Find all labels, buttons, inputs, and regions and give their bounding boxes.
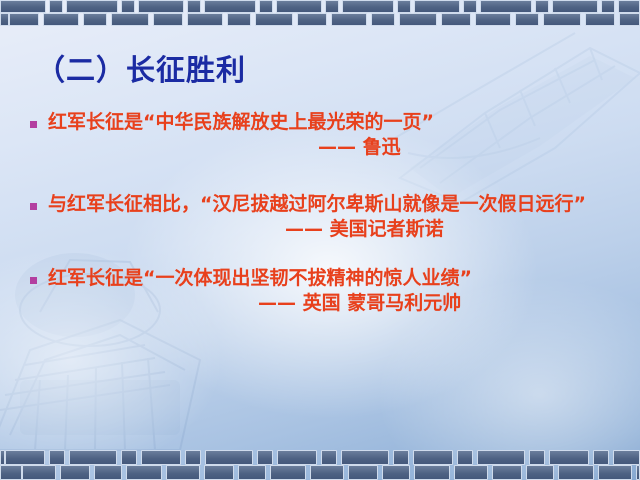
bullet-text: 红军长征是“一次体现出坚韧不拔精神的惊人业绩” — [48, 266, 634, 291]
slide-title: （二）长征胜利 — [36, 47, 246, 89]
quote-block-3: 红军长征是“一次体现出坚韧不拔精神的惊人业绩” —— 英国 蒙哥马利元帅 — [0, 266, 640, 316]
slide-body: 红军长征是“中华民族解放史上最光荣的一页” —— 鲁迅 与红军长征相比，“汉尼拔… — [0, 110, 640, 318]
spacer — [0, 244, 640, 266]
bullet-row: 与红军长征相比，“汉尼拔越过阿尔卑斯山就像是一次假日远行” — [0, 192, 640, 217]
square-bullet-icon — [30, 277, 37, 284]
slide-canvas: （二）长征胜利 红军长征是“中华民族解放史上最光荣的一页” —— 鲁迅 与红军长… — [0, 0, 640, 480]
bottom-border-strip — [0, 450, 640, 480]
bullet-text: 与红军长征相比，“汉尼拔越过阿尔卑斯山就像是一次假日远行” — [48, 192, 634, 217]
square-bullet-icon — [30, 121, 37, 128]
attribution-text: —— 美国记者斯诺 — [285, 217, 640, 242]
bullet-row: 红军长征是“一次体现出坚韧不拔精神的惊人业绩” — [0, 266, 640, 291]
attribution-text: —— 鲁迅 — [318, 135, 640, 160]
bullet-text: 红军长征是“中华民族解放史上最光荣的一页” — [48, 110, 634, 135]
attribution-text: —— 英国 蒙哥马利元帅 — [258, 291, 640, 316]
quote-block-1: 红军长征是“中华民族解放史上最光荣的一页” —— 鲁迅 — [0, 110, 640, 160]
quote-block-2: 与红军长征相比，“汉尼拔越过阿尔卑斯山就像是一次假日远行” —— 美国记者斯诺 — [0, 192, 640, 242]
top-border-strip — [0, 0, 640, 26]
square-bullet-icon — [30, 203, 37, 210]
spacer — [0, 162, 640, 192]
bullet-row: 红军长征是“中华民族解放史上最光荣的一页” — [0, 110, 640, 135]
